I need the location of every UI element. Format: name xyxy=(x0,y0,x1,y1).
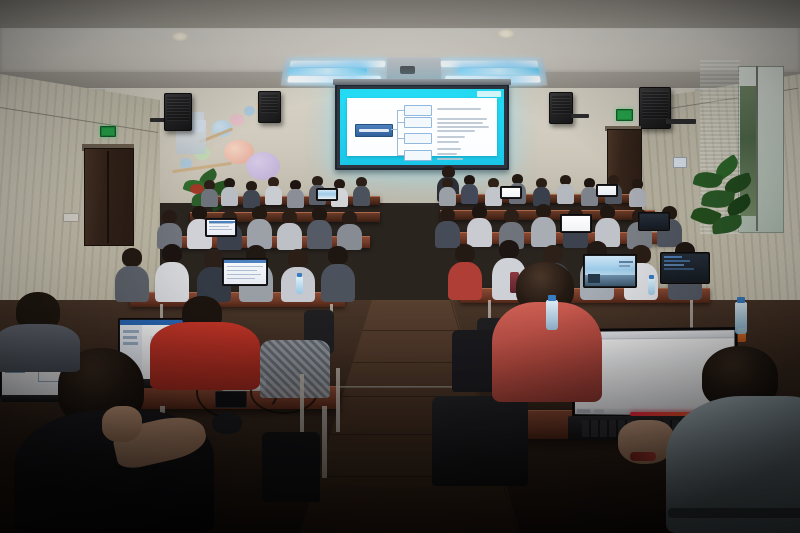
vignette xyxy=(0,0,800,533)
training-room-photo xyxy=(0,0,800,533)
